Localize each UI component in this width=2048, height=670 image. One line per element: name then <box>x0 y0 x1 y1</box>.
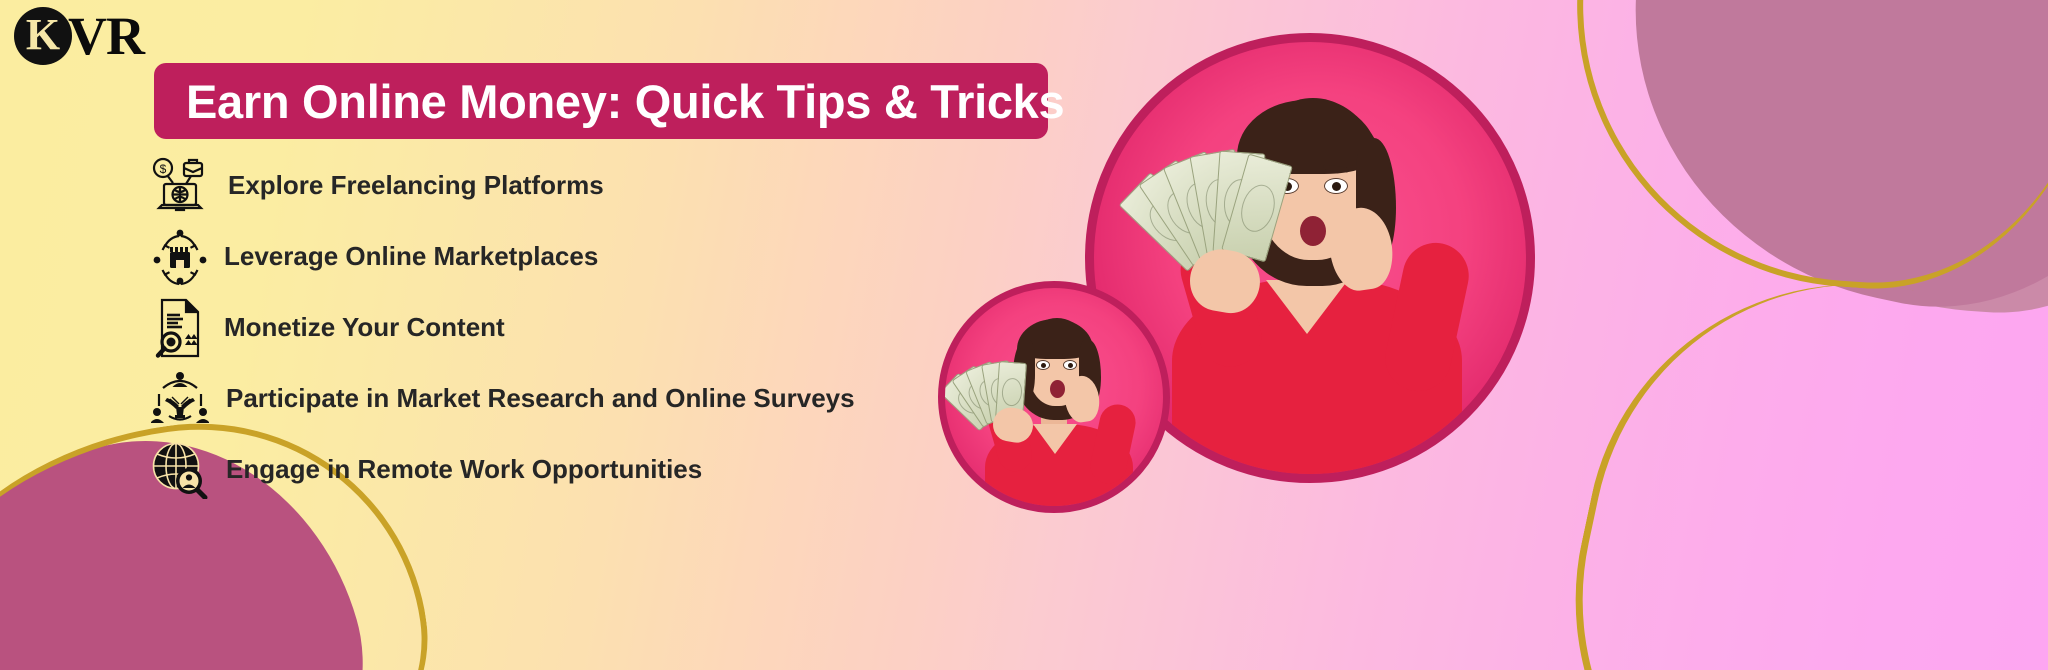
decor-gold-line <box>1558 0 2048 304</box>
woman-pupil-right <box>1332 182 1341 191</box>
laptop-globe-briefcase-dollar-icon: $ <box>150 155 210 217</box>
woman-mouth-open <box>1050 380 1065 398</box>
logo-badge-letter: K <box>26 13 60 57</box>
list-item: Engage in Remote Work Opportunities <box>150 434 1030 505</box>
surprised-woman-holding-cash-small <box>938 281 1170 513</box>
decorative-corner-top-right <box>1578 0 2048 320</box>
logo-badge-icon: K <box>14 7 72 65</box>
list-item: Monetize Your Content <box>150 292 1030 363</box>
promo-banner: K VR Earn Online Money: Quick Tips & Tri… <box>0 0 2048 670</box>
page-title: Earn Online Money: Quick Tips & Tricks <box>154 74 1064 129</box>
decor-petal <box>1688 0 2048 327</box>
globe-person-search-icon <box>150 439 210 501</box>
brand-logo[interactable]: K VR <box>14 4 144 68</box>
storefront-cycle-icon <box>150 226 210 288</box>
list-item: $ Explore Freelancing Platforms <box>150 150 1030 221</box>
list-item: Participate in Market Research and Onlin… <box>150 363 1030 434</box>
decor-gold-line <box>1521 234 2048 670</box>
list-item-label: Monetize Your Content <box>224 312 505 343</box>
document-magnifier-money-icon <box>150 297 210 359</box>
list-item-label: Explore Freelancing Platforms <box>228 170 604 201</box>
list-item-label: Engage in Remote Work Opportunities <box>226 454 702 485</box>
list-item: Leverage Online Marketplaces <box>150 221 1030 292</box>
tips-list: $ Explore Freelancing Platforms <box>150 150 1030 505</box>
logo-wordmark: VR <box>68 9 144 63</box>
decor-petal <box>1582 0 2048 352</box>
woman-pupil-right <box>1068 363 1073 368</box>
banner-title-bar: Earn Online Money: Quick Tips & Tricks <box>154 63 1048 139</box>
woman-illustration <box>945 288 1163 506</box>
list-item-label: Leverage Online Marketplaces <box>224 241 598 272</box>
svg-text:$: $ <box>160 162 167 176</box>
people-network-handshake-icon <box>150 368 210 430</box>
list-item-label: Participate in Market Research and Onlin… <box>226 383 855 414</box>
